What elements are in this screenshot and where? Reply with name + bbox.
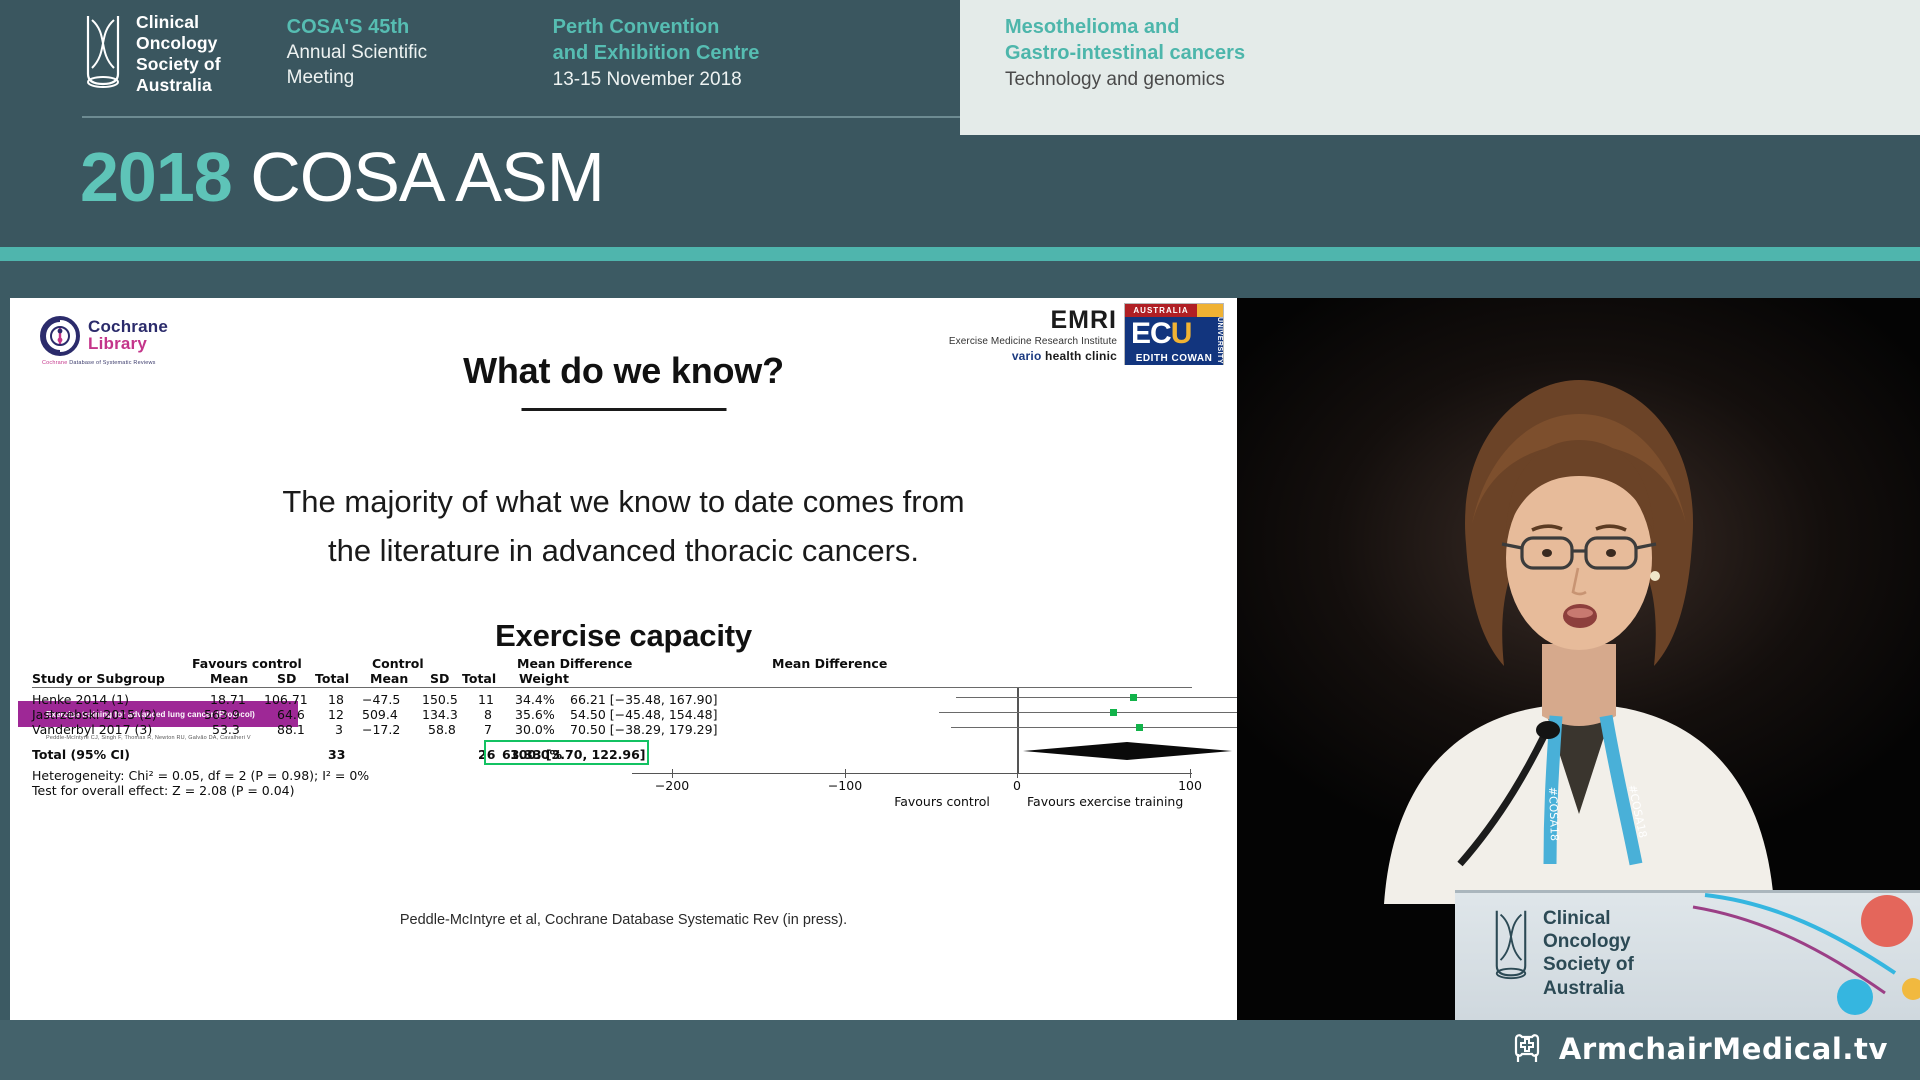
overall-effect-text: Test for overall effect: Z = 2.08 (P = 0…	[32, 783, 295, 798]
row-2-exp-total: 12	[328, 707, 344, 722]
podium: Clinical Oncology Society of Australia	[1455, 890, 1920, 1020]
title-underline-rule	[521, 408, 726, 411]
podium-line-3: Society of	[1543, 953, 1634, 976]
row-3-study: Vanderbyl 2017 (3)	[32, 722, 152, 737]
row-3-exp-mean: 53.3	[212, 722, 240, 737]
podium-line-2: Oncology	[1543, 930, 1634, 953]
row-1-weight: 34.4%	[515, 692, 555, 707]
col-header-exp-mean: Mean	[210, 671, 248, 686]
xtick-mark-100	[1190, 769, 1191, 778]
total-effect-highlight-box	[484, 740, 649, 765]
forest-plot-graph: −200 −100 0 100 200 Favours control Favo…	[632, 656, 1192, 796]
theme-highlight-1: Mesothelioma and	[1005, 14, 1425, 40]
row-3-weight: 30.0%	[515, 722, 555, 737]
slide-body-text: The majority of what we know to date com…	[10, 478, 1237, 576]
ecu-main: ECU UNIVERSITY	[1125, 317, 1223, 351]
effect-marker-row-1	[1130, 694, 1137, 701]
header-top-row: Clinical Oncology Society of Australia C…	[0, 0, 1920, 135]
cosa-dna-logo-icon	[82, 12, 124, 90]
asm-year: 2018	[80, 138, 232, 216]
slide-title: What do we know?	[10, 350, 1237, 392]
col-header-ctl-sd: SD	[430, 671, 449, 686]
podium-logo: Clinical Oncology Society of Australia	[1491, 907, 1634, 1000]
col-header-ctl-mean: Mean	[370, 671, 408, 686]
effect-marker-row-3	[1136, 724, 1143, 731]
podium-line-4: Australia	[1543, 977, 1634, 1000]
col-header-ctl-total: Total	[462, 671, 496, 686]
cosa-line-4: Australia	[136, 75, 221, 96]
summary-diamond	[1012, 740, 1237, 762]
conference-header-banner: Clinical Oncology Society of Australia C…	[0, 0, 1920, 261]
cosa-line-3: Society of	[136, 54, 221, 75]
footer-bar: ArmchairMedical.tv	[0, 1020, 1920, 1080]
presentation-slide: Cochrane Library Cochrane Database of Sy…	[10, 298, 1237, 1020]
row-2-exp-sd: 64.6	[277, 707, 305, 722]
col-header-exp-sd: SD	[277, 671, 296, 686]
row-3-exp-sd: 88.1	[277, 722, 305, 737]
cosa-line-1: Clinical	[136, 12, 221, 33]
podium-logo-text: Clinical Oncology Society of Australia	[1543, 907, 1634, 1000]
effect-marker-row-2	[1110, 709, 1117, 716]
row-2-exp-mean: 563.9	[204, 707, 240, 722]
emri-acronym: EMRI	[949, 308, 1117, 333]
row-3-ctl-mean: −17.2	[362, 722, 400, 737]
xtick-mark-neg100	[845, 769, 846, 778]
teal-accent-strip	[0, 247, 1920, 261]
header-bottom-row: 2018 COSA ASM	[0, 135, 1920, 261]
col-header-weight: Weight	[519, 671, 569, 686]
group-header-mean-difference: Mean Difference	[517, 656, 632, 671]
row-1-exp-total: 18	[328, 692, 344, 707]
asm-title: 2018 COSA ASM	[80, 137, 604, 217]
axis-label-favours-exercise: Favours exercise training	[1027, 794, 1183, 809]
cosa-logo-text: Clinical Oncology Society of Australia	[136, 12, 221, 96]
meeting-sub-1: Annual Scientific	[287, 40, 517, 65]
ecu-letters-gold: U	[1171, 317, 1192, 350]
header-right-panel: Mesothelioma and Gastro-intestinal cance…	[960, 0, 1920, 135]
row-2-study: Jastrzebski 2015 (2)	[32, 707, 157, 722]
venue-dates: 13-15 November 2018	[553, 67, 803, 92]
row-3-ctl-total: 7	[484, 722, 492, 737]
armchair-medical-brand-text: ArmchairMedical.tv	[1559, 1032, 1888, 1066]
row-2-ctl-total: 8	[484, 707, 492, 722]
group-header-control: Control	[372, 656, 424, 671]
xtick-label-neg200: −200	[655, 778, 689, 793]
venue-highlight-2: and Exhibition Centre	[553, 40, 803, 66]
axis-label-favours-control: Favours control	[894, 794, 990, 809]
xtick-label-0: 0	[1013, 778, 1021, 793]
col-header-study: Study or Subgroup	[32, 671, 165, 686]
cosa-logo: Clinical Oncology Society of Australia	[0, 0, 221, 96]
row-1-exp-mean: 18.71	[210, 692, 246, 707]
row-2-ctl-mean: 509.4	[362, 707, 398, 722]
ecu-letters: ECU	[1125, 319, 1191, 349]
header-meeting-column: COSA'S 45th Annual Scientific Meeting	[287, 0, 517, 91]
ci-line-row-1	[956, 697, 1237, 698]
xtick-mark-neg200	[672, 769, 673, 778]
row-1-exp-sd: 106.71	[264, 692, 308, 707]
section-heading: Exercise capacity	[10, 618, 1237, 654]
asm-name: COSA ASM	[250, 138, 604, 216]
speaker-video-panel[interactable]: #COSA18 #COSA18	[1237, 298, 1920, 1020]
ci-line-row-3	[951, 727, 1237, 728]
row-1-study: Henke 2014 (1)	[32, 692, 129, 707]
row-1-ctl-mean: −47.5	[362, 692, 400, 707]
ecu-australia-label: AUSTRALIA	[1125, 304, 1197, 317]
emri-full-name: Exercise Medicine Research Institute	[949, 336, 1117, 347]
svg-text:#COSA18: #COSA18	[1546, 787, 1561, 842]
row-3-exp-total: 3	[335, 722, 343, 737]
header-left-panel: Clinical Oncology Society of Australia C…	[0, 0, 960, 135]
meeting-sub-2: Meeting	[287, 65, 517, 90]
venue-highlight-1: Perth Convention	[553, 14, 803, 40]
slide-body-line-1: The majority of what we know to date com…	[10, 478, 1237, 527]
ecu-letters-white: EC	[1131, 317, 1171, 350]
header-divider-rule	[82, 116, 960, 118]
cosa-line-2: Oncology	[136, 33, 221, 54]
total-exp-total: 33	[328, 747, 345, 762]
row-1-ctl-total: 11	[478, 692, 494, 707]
x-axis-line	[632, 773, 1192, 774]
armchair-medical-cross-icon	[1509, 1032, 1545, 1066]
group-header-experimental: Favours control	[192, 656, 302, 671]
podium-cosa-dna-logo-icon	[1491, 907, 1531, 981]
row-1-ctl-sd: 150.5	[422, 692, 458, 707]
slide-body-line-2: the literature in advanced thoracic canc…	[10, 527, 1237, 576]
podium-line-1: Clinical	[1543, 907, 1634, 930]
theme-highlight-2: Gastro-intestinal cancers	[1005, 40, 1425, 66]
ecu-university-label: UNIVERSITY	[1210, 317, 1223, 351]
ecu-gold-block	[1197, 304, 1223, 317]
screenshot-root: Clinical Oncology Society of Australia C…	[0, 0, 1920, 1080]
ecu-top-bar: AUSTRALIA	[1125, 304, 1223, 317]
col-header-exp-total: Total	[315, 671, 349, 686]
row-3-ctl-sd: 58.8	[428, 722, 456, 737]
forest-plot: Favours control Control Mean Difference …	[32, 656, 1222, 796]
meeting-highlight: COSA'S 45th	[287, 14, 517, 40]
row-2-weight: 35.6%	[515, 707, 555, 722]
theme-sub: Technology and genomics	[1005, 67, 1425, 92]
xtick-label-100: 100	[1178, 778, 1202, 793]
heterogeneity-text: Heterogeneity: Chi² = 0.05, df = 2 (P = …	[32, 768, 369, 783]
header-venue-column: Perth Convention and Exhibition Centre 1…	[553, 0, 803, 92]
slide-citation: Peddle-McIntyre et al, Cochrane Database…	[10, 912, 1237, 928]
header-theme-column: Mesothelioma and Gastro-intestinal cance…	[1005, 0, 1425, 92]
row-2-ctl-sd: 134.3	[422, 707, 458, 722]
speaker-figure: #COSA18 #COSA18	[1344, 344, 1814, 904]
ci-line-row-2	[939, 712, 1237, 713]
xtick-mark-0	[1017, 769, 1018, 778]
total-row-label: Total (95% CI)	[32, 747, 130, 762]
xtick-label-neg100: −100	[828, 778, 862, 793]
armchair-medical-branding[interactable]: ArmchairMedical.tv	[1509, 1032, 1888, 1066]
cochrane-title-1: Cochrane	[88, 318, 168, 335]
